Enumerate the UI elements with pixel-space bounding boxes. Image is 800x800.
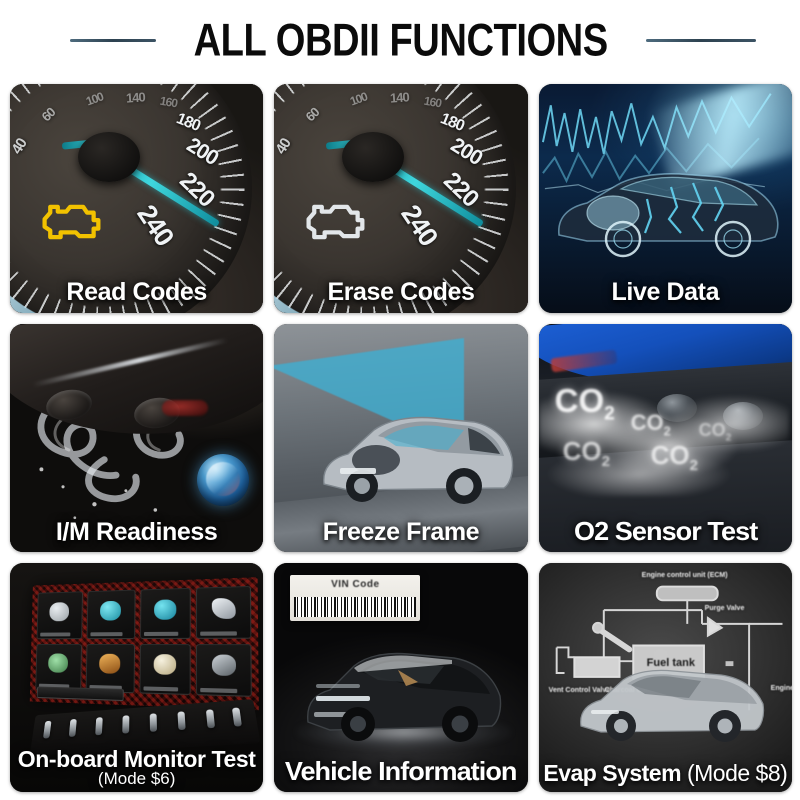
card-label-main: Vehicle Information bbox=[285, 756, 517, 786]
evap-system-art: Engine control unit (ECM) Purge Valve Fu… bbox=[539, 563, 792, 792]
console-knob[interactable] bbox=[69, 719, 77, 737]
function-card-live-data[interactable]: Live Data bbox=[539, 84, 792, 313]
head-unit-screen bbox=[30, 578, 259, 711]
console-knob[interactable] bbox=[43, 721, 52, 739]
wagon-cutaway-graphic bbox=[575, 660, 771, 748]
gauge-tick-label: 160 bbox=[159, 94, 178, 111]
card-label-read-codes: Read Codes bbox=[10, 279, 263, 305]
console-knob[interactable] bbox=[177, 712, 185, 731]
gauge-hub bbox=[78, 132, 140, 182]
function-card-vehicle-information[interactable]: VIN Code bbox=[274, 563, 527, 792]
function-card-im-readiness[interactable]: I/M Readiness bbox=[10, 324, 263, 553]
gauge-tick-label: 160 bbox=[423, 94, 442, 111]
co2-text: CO2 bbox=[631, 410, 671, 438]
console-knob[interactable] bbox=[122, 716, 129, 734]
card-label-o2-sensor-test: O2 Sensor Test bbox=[539, 518, 792, 545]
console-knob[interactable] bbox=[95, 717, 103, 735]
suv-graphic bbox=[302, 638, 506, 746]
gauge-tick-label: 140 bbox=[125, 89, 145, 105]
app-tile[interactable] bbox=[35, 644, 81, 692]
function-card-evap-system[interactable]: Engine control unit (ECM) Purge Valve Fu… bbox=[539, 563, 792, 792]
app-tile[interactable] bbox=[196, 644, 252, 697]
co2-text: CO2 bbox=[651, 440, 698, 474]
card-label-freeze-frame: Freeze Frame bbox=[274, 519, 527, 545]
co2-text: CO2 bbox=[699, 420, 732, 444]
page-title: ALL OBDII FUNCTIONS bbox=[194, 14, 608, 67]
co2-text: CO2 bbox=[563, 436, 610, 470]
poster-root: ALL OBDII FUNCTIONS 40 60 100 140 160 18… bbox=[0, 0, 800, 800]
barcode-icon bbox=[294, 597, 416, 617]
console-knob[interactable] bbox=[150, 714, 157, 733]
cutaway-car-graphic bbox=[318, 392, 518, 510]
card-label-sub: (Mode $8) bbox=[687, 760, 787, 786]
card-label-vehicle-information: Vehicle Information bbox=[274, 758, 527, 785]
card-label-evap-system: Evap System (Mode $8) bbox=[539, 761, 792, 785]
app-tile[interactable] bbox=[140, 588, 192, 639]
schematic-label: Engine bbox=[771, 685, 792, 692]
gauge-tick-label: 140 bbox=[390, 89, 410, 105]
app-tile[interactable] bbox=[139, 644, 191, 695]
card-label-im-readiness: I/M Readiness bbox=[10, 519, 263, 545]
app-tile-grid bbox=[35, 586, 252, 697]
check-engine-icon bbox=[302, 200, 368, 244]
tail-light bbox=[162, 400, 208, 416]
xray-car-graphic bbox=[551, 147, 783, 259]
console-knob[interactable] bbox=[206, 710, 215, 729]
function-card-erase-codes[interactable]: 40 60 100 140 160 180 200 220 240 Erase … bbox=[274, 84, 527, 313]
app-tile[interactable] bbox=[86, 590, 135, 639]
gauge-hub bbox=[342, 132, 404, 182]
card-label-erase-codes: Erase Codes bbox=[274, 279, 527, 305]
function-card-o2-sensor-test[interactable]: CO2 CO2 CO2 CO2 CO2 O2 Sensor Test bbox=[539, 324, 792, 553]
vin-barcode-plate: VIN Code bbox=[290, 575, 420, 621]
card-label-live-data: Live Data bbox=[539, 279, 792, 305]
function-card-read-codes[interactable]: 40 60 100 140 160 180 200 220 240 Read C… bbox=[10, 84, 263, 313]
app-tile[interactable] bbox=[196, 586, 251, 638]
app-tile[interactable] bbox=[37, 592, 83, 639]
function-card-freeze-frame[interactable]: Freeze Frame bbox=[274, 324, 527, 553]
schematic-label: Engine control unit (ECM) bbox=[642, 572, 728, 579]
schematic-label: Purge Valve bbox=[705, 605, 745, 612]
function-card-onboard-monitor-test[interactable]: On-board Monitor Test (Mode $6) bbox=[10, 563, 263, 792]
vin-label-text: VIN Code bbox=[290, 579, 420, 590]
card-label-main: Evap System bbox=[543, 760, 687, 786]
app-tile[interactable] bbox=[85, 644, 134, 694]
console-knob[interactable] bbox=[232, 708, 242, 727]
card-label-sub: (Mode $6) bbox=[10, 770, 263, 788]
page-header: ALL OBDII FUNCTIONS bbox=[0, 0, 800, 80]
header-rule-right bbox=[646, 39, 756, 42]
header-rule-left bbox=[70, 39, 156, 42]
functions-grid: 40 60 100 140 160 180 200 220 240 Read C… bbox=[10, 84, 792, 792]
co2-text: CO2 bbox=[555, 382, 615, 426]
card-label-onboard-monitor-test: On-board Monitor Test (Mode $6) bbox=[10, 747, 263, 788]
check-engine-icon bbox=[38, 200, 104, 244]
